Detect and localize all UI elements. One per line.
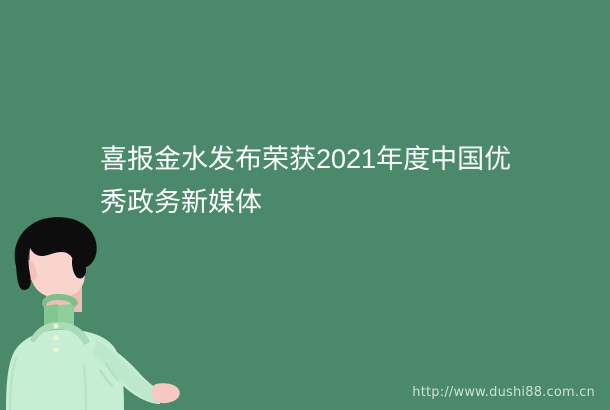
- watermark-url: http://www.dushi88.com.cn: [412, 385, 595, 400]
- person-illustration: [0, 212, 200, 410]
- poster-canvas: 喜报金水发布荣获2021年度中国优秀政务新媒体 http://www.dushi…: [0, 0, 610, 410]
- sweater-body-shape: [6, 330, 124, 410]
- page-title: 喜报金水发布荣获2021年度中国优秀政务新媒体: [100, 138, 520, 224]
- collar-buttons: [53, 323, 58, 352]
- hand-shape: [152, 383, 180, 403]
